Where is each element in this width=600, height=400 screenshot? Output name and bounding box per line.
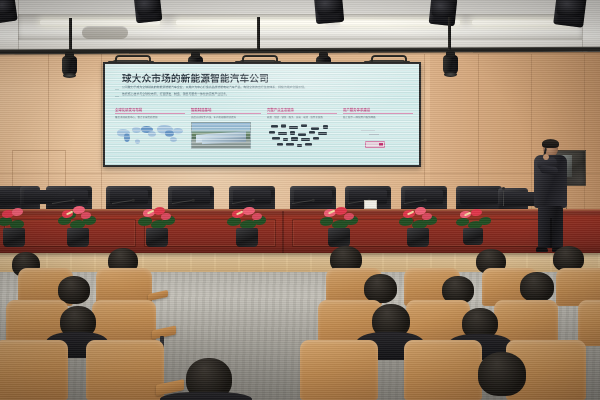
truss-drop-rod <box>448 17 451 50</box>
auditorium-seat[interactable] <box>404 340 482 400</box>
lecture-hall-photo: 球大众市场的新能源智能汽车公司 — 公司致力于成为全球领先的新能源智能汽车企业，… <box>0 0 600 400</box>
ceiling-speaker <box>553 0 587 28</box>
presenter-hair <box>542 139 559 148</box>
audience-head <box>520 272 554 302</box>
ceiling-light-strip <box>176 20 326 25</box>
bullet-dash-icon: — <box>115 93 119 98</box>
ceiling-speaker <box>429 0 458 26</box>
slide-bullet: — 依托核心技术与全球化布局，打造研发、制造、销售与服务一体化的完整产业链条。 <box>115 93 411 98</box>
name-card <box>364 200 377 209</box>
audience-head <box>478 352 526 396</box>
slide-bullet: — 公司致力于成为全球领先的新能源智能汽车企业，以用户为中心打造高品质智能电动汽… <box>115 86 411 91</box>
wall-seam <box>584 54 585 210</box>
ceiling-speaker <box>134 0 163 23</box>
column-body: 研发 · 制造 · 销售 · 服务 · 充电 · 电池 · 软件全链路 <box>267 116 337 119</box>
flower-pot <box>463 228 483 245</box>
seat-back <box>404 340 482 400</box>
flower-pot <box>236 228 258 247</box>
par-spotlight <box>443 55 458 75</box>
bullet-text: 公司致力于成为全球领先的新能源智能汽车企业，以用户为中心打造高品质智能电动汽车产… <box>122 86 307 91</box>
bullet-text: 依托核心技术与全球化布局，打造研发、制造、销售与服务一体化的完整产业链条。 <box>122 93 229 98</box>
wall-seam <box>101 54 102 210</box>
seat-back <box>0 340 68 400</box>
truss-drop-rod <box>257 17 260 50</box>
audience-head <box>364 274 397 303</box>
auditorium-seat[interactable] <box>300 340 378 400</box>
highlight-badge <box>365 141 385 148</box>
slide-column: 全球化研发与布局 覆盖多国研发中心，整合全球优质资源 <box>115 108 185 148</box>
column-body: 高度自动化生产线，年产能规模持续提升 <box>191 116 261 119</box>
column-heading: 完整产业生态链条 <box>267 108 337 114</box>
factory-photo-graphic <box>191 122 261 148</box>
flower-pot <box>67 228 89 247</box>
slide-column: 用户服务体系建设 线上线下一体化用户服务网络 <box>343 108 413 148</box>
slide-bullets: — 公司致力于成为全球领先的新能源智能汽车企业，以用户为中心打造高品质智能电动汽… <box>115 86 411 100</box>
ceiling-speaker <box>0 0 18 23</box>
projection-screen: 球大众市场的新能源智能汽车公司 — 公司致力于成为全球领先的新能源智能汽车企业，… <box>103 62 421 167</box>
fresnel-yoke <box>115 55 151 62</box>
slide-columns: 全球化研发与布局 覆盖多国研发中心，整合全球优质资源 <box>115 108 415 148</box>
presenter-leg-gap <box>550 218 552 248</box>
service-network-graphic <box>343 122 413 148</box>
seat-back <box>300 340 378 400</box>
ceiling-vent <box>82 26 128 39</box>
flower-pot <box>328 228 350 247</box>
world-map-graphic <box>115 122 185 148</box>
column-heading: 智能制造基地 <box>191 108 261 114</box>
auditorium-seat[interactable] <box>86 340 164 400</box>
column-body: 覆盖多国研发中心，整合全球优质资源 <box>115 116 185 119</box>
slide-title: 球大众市场的新能源智能汽车公司 <box>122 71 269 85</box>
slide-column: 完整产业生态链条 研发 · 制造 · 销售 · 服务 · 充电 · 电池 · 软… <box>267 108 337 148</box>
flower-pot <box>3 228 25 247</box>
presenter-hand <box>543 154 549 160</box>
flower-pot <box>146 228 168 247</box>
auditorium-seat[interactable] <box>0 340 68 400</box>
slide-surface: 球大众市场的新能源智能汽车公司 — 公司致力于成为全球领先的新能源智能汽车企业，… <box>105 64 419 165</box>
column-heading: 全球化研发与布局 <box>115 108 185 114</box>
presenter-shoe <box>536 247 548 252</box>
presenter <box>531 140 571 255</box>
seat-back <box>86 340 164 400</box>
fresnel-yoke <box>371 55 407 62</box>
ceiling-speaker <box>314 0 345 24</box>
par-spotlight <box>62 56 77 76</box>
gooseneck-microphone <box>503 189 504 206</box>
fresnel-yoke <box>242 55 278 62</box>
audience-shoulders <box>160 392 252 400</box>
slide-column: 智能制造基地 高度自动化生产线，年产能规模持续提升 <box>191 108 261 148</box>
truss-drop-rod <box>69 18 72 50</box>
wall-trim-line <box>0 173 600 174</box>
column-body: 线上线下一体化用户服务网络 <box>343 116 413 119</box>
network-diagram-graphic <box>267 122 337 148</box>
flower-pot <box>407 228 429 247</box>
bullet-dash-icon: — <box>115 86 119 91</box>
dais-seam <box>282 211 284 253</box>
column-heading: 用户服务体系建设 <box>343 108 413 114</box>
